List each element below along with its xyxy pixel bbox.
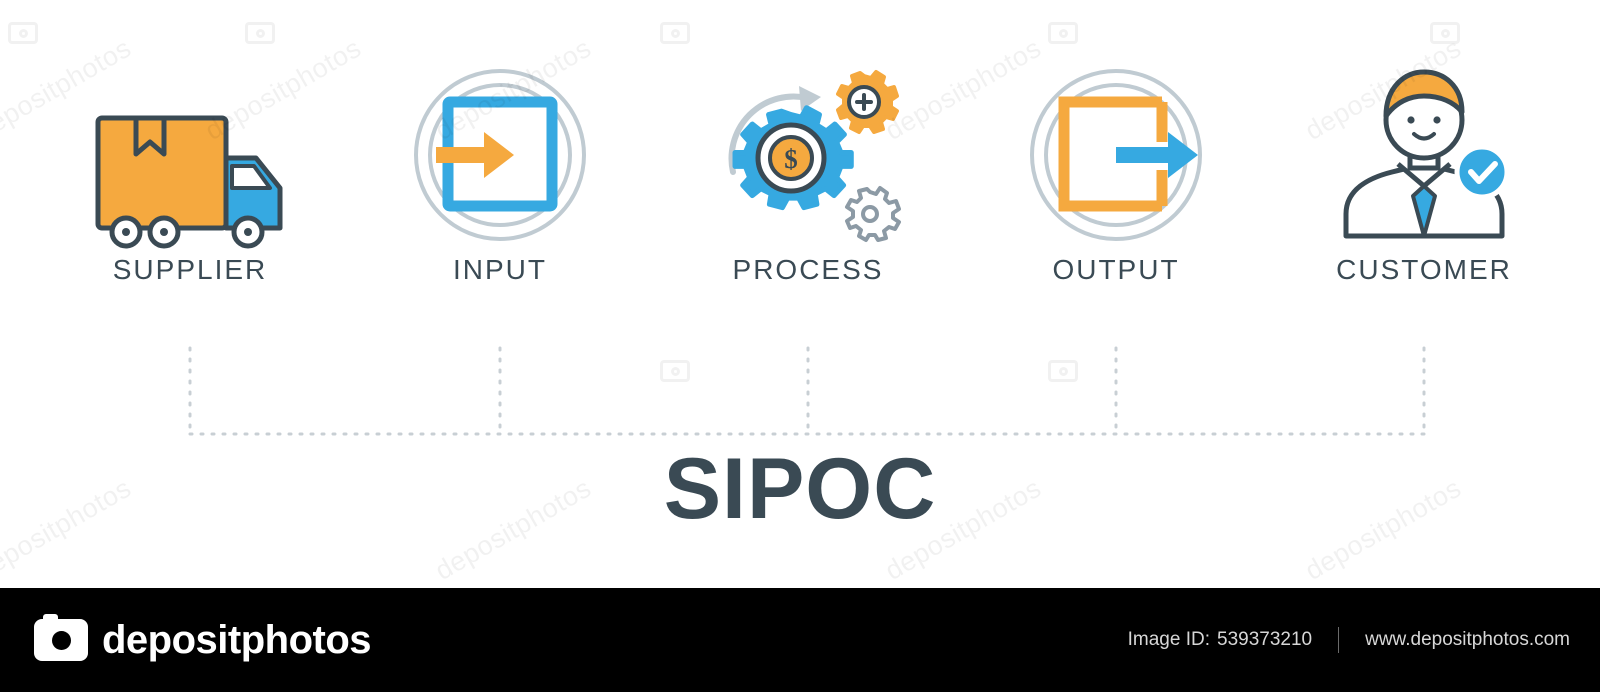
footer-meta: Image ID: 539373210 www.depositphotos.co… <box>1128 627 1570 653</box>
footer-bar: depositphotos Image ID: 539373210 www.de… <box>0 588 1600 692</box>
footer-logo: depositphotos <box>34 618 371 663</box>
footer-divider <box>1338 627 1339 653</box>
image-id-value: 539373210 <box>1217 629 1312 651</box>
brand-name: depositphotos <box>102 618 371 663</box>
sipoc-infographic: SUPPLIER INPUT <box>0 0 1600 590</box>
image-id-label: Image ID: <box>1128 629 1210 651</box>
connector-lines <box>0 0 1600 590</box>
website-url: www.depositphotos.com <box>1365 629 1570 651</box>
camera-icon <box>34 619 88 661</box>
